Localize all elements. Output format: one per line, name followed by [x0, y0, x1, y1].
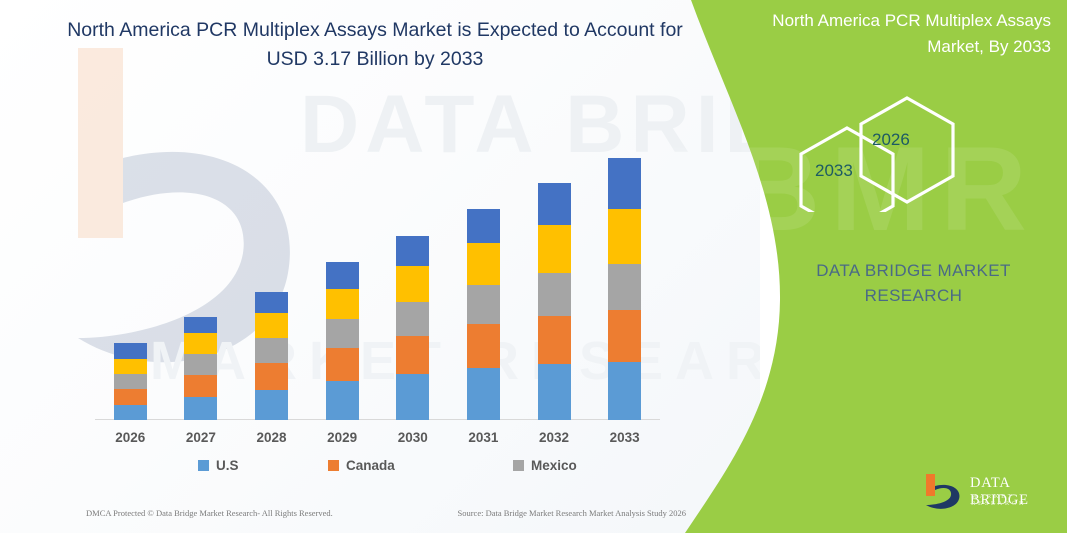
bar-segment-series4: [396, 266, 429, 301]
bar-segment-series5: [467, 209, 500, 243]
legend-item-us[interactable]: U.S: [198, 458, 239, 473]
legend-label: Mexico: [531, 458, 577, 473]
legend-swatch-icon: [513, 460, 524, 471]
bar-segment-us: [184, 397, 217, 420]
bar-segment-mexico: [326, 319, 359, 348]
brand-name-line2: RESEARCH: [760, 283, 1067, 308]
bar-2028[interactable]: [255, 292, 288, 420]
bar-segment-mexico: [467, 285, 500, 324]
bar-2027[interactable]: [184, 317, 217, 420]
legend-label: U.S: [216, 458, 239, 473]
legend-item-canada[interactable]: Canada: [328, 458, 395, 473]
bar-segment-us: [114, 405, 147, 420]
bar-segment-series5: [608, 158, 641, 209]
legend-label: Canada: [346, 458, 395, 473]
bar-segment-us: [255, 390, 288, 420]
bar-segment-canada: [114, 389, 147, 405]
bar-segment-series4: [114, 359, 147, 374]
legend-swatch-icon: [198, 460, 209, 471]
footer-copyright: DMCA Protected © Data Bridge Market Rese…: [86, 508, 333, 518]
bar-segment-series5: [114, 343, 147, 359]
bar-segment-us: [396, 374, 429, 420]
bar-segment-mexico: [396, 302, 429, 336]
legend-swatch-icon: [328, 460, 339, 471]
infographic-root: DATA BRIDGE MARKET RESEARCH North Americ…: [0, 0, 1067, 533]
hexagon-2026-label: 2026: [872, 130, 910, 150]
footer: DMCA Protected © Data Bridge Market Rese…: [86, 508, 686, 518]
bar-segment-canada: [538, 316, 571, 364]
bar-2026[interactable]: [114, 343, 147, 420]
bar-segment-mexico: [114, 374, 147, 389]
x-axis-line: [95, 419, 660, 420]
company-logo: DATA BRIDGE MARKET RESEARCH: [918, 472, 1058, 514]
logo-mark-icon: [918, 472, 964, 512]
bar-segment-mexico: [608, 264, 641, 309]
x-axis-label-2029: 2029: [312, 430, 372, 445]
bar-segment-mexico: [538, 273, 571, 315]
x-axis-label-2032: 2032: [524, 430, 584, 445]
bar-segment-us: [608, 362, 641, 420]
bar-2030[interactable]: [396, 236, 429, 420]
x-axis-label-2028: 2028: [242, 430, 302, 445]
bar-segment-series4: [538, 225, 571, 273]
bar-segment-series5: [538, 183, 571, 225]
bar-segment-series5: [255, 292, 288, 313]
brand-name-line1: DATA BRIDGE MARKET: [760, 258, 1067, 283]
bar-segment-series4: [608, 209, 641, 264]
x-axis-label-2027: 2027: [171, 430, 231, 445]
chart-plot-area: [95, 60, 660, 420]
x-axis-label-2026: 2026: [100, 430, 160, 445]
bar-2029[interactable]: [326, 262, 359, 420]
bar-segment-us: [467, 368, 500, 420]
bar-segment-series4: [326, 289, 359, 319]
panel-title: North America PCR Multiplex Assays Marke…: [751, 8, 1051, 60]
bar-segment-canada: [184, 375, 217, 397]
bar-segment-canada: [608, 310, 641, 362]
x-axis-label-2031: 2031: [453, 430, 513, 445]
bar-2032[interactable]: [538, 183, 571, 420]
bar-segment-series5: [396, 236, 429, 266]
chart-legend: U.SCanadaMexico: [95, 458, 660, 480]
x-axis-label-2030: 2030: [383, 430, 443, 445]
bar-segment-mexico: [184, 354, 217, 375]
footer-source: Source: Data Bridge Market Research Mark…: [457, 508, 686, 518]
bar-segment-series4: [184, 333, 217, 354]
x-axis-labels: 20262027202820292030203120322033: [95, 430, 660, 452]
bar-segment-canada: [255, 363, 288, 390]
bar-segment-us: [538, 364, 571, 420]
bar-2033[interactable]: [608, 158, 641, 420]
bar-segment-canada: [326, 348, 359, 381]
hexagon-2033-label: 2033: [815, 161, 853, 181]
bar-segment-series5: [326, 262, 359, 288]
chart-pane: DATA BRIDGE MARKET RESEARCH North Americ…: [0, 0, 760, 533]
legend-item-mexico[interactable]: Mexico: [513, 458, 577, 473]
bar-segment-canada: [396, 336, 429, 374]
hexagon-2026-icon: [861, 98, 953, 202]
bar-segment-canada: [467, 324, 500, 368]
bar-segment-series5: [184, 317, 217, 333]
bar-segment-series4: [467, 243, 500, 284]
bar-2031[interactable]: [467, 209, 500, 420]
brand-name-block: DATA BRIDGE MARKET RESEARCH: [760, 258, 1067, 308]
hexagon-group-icon: [787, 92, 1047, 212]
bar-segment-mexico: [255, 338, 288, 363]
bar-segment-series4: [255, 313, 288, 338]
logo-subtitle: MARKET RESEARCH: [971, 493, 1058, 507]
bar-segment-us: [326, 381, 359, 420]
x-axis-label-2033: 2033: [595, 430, 655, 445]
